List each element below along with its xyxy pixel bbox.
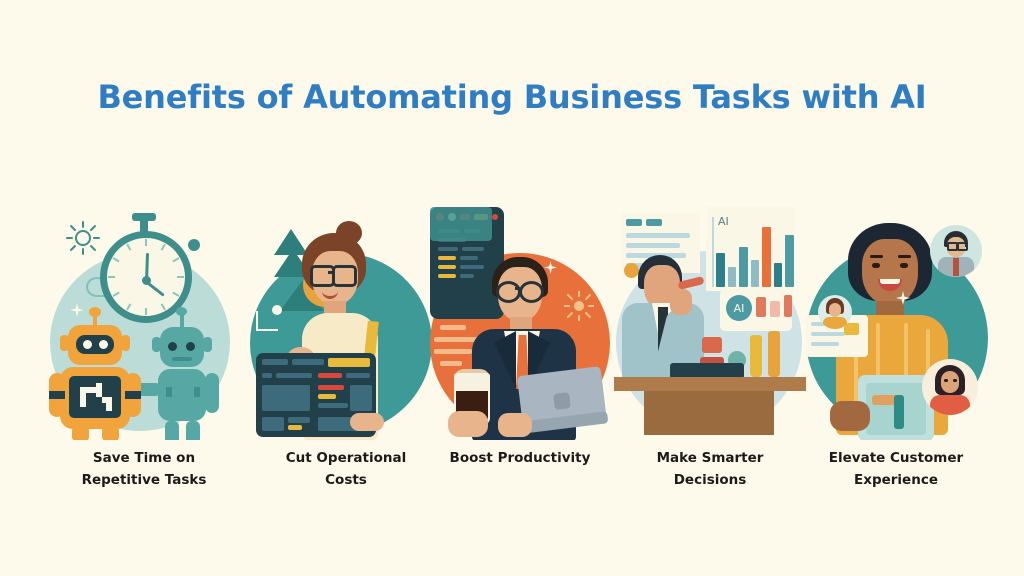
hand (350, 413, 384, 431)
tablet-panel (430, 207, 504, 319)
sun-icon (66, 221, 100, 255)
chart-bar (739, 247, 748, 287)
benefits-row: Save Time on Repetitive Tasks 20 (0, 205, 1024, 505)
eyebrow (898, 255, 911, 258)
benefit-caption: Boost Productivity (410, 448, 630, 470)
caption-line-1: Save Time on (34, 448, 254, 470)
desk-base (644, 391, 774, 435)
benefit-card-save-time[interactable]: Save Time on Repetitive Tasks (48, 205, 240, 505)
chart-bar (751, 260, 760, 287)
bottle-icon (768, 331, 780, 377)
benefit-card-customer-experience[interactable]: Elevate Customer Experience (800, 205, 992, 505)
sparkle-icon (70, 303, 84, 317)
hand (830, 401, 870, 431)
tablet-graphic-stem (894, 395, 904, 429)
illustration-boost-productivity (424, 205, 616, 440)
clock-tick (177, 276, 184, 278)
sun-icon (564, 291, 594, 321)
connector-node (272, 305, 282, 315)
laptop-logo (553, 392, 571, 410)
illustration-cut-costs: 20 (250, 205, 442, 440)
art-woman-dashboard: 20 (250, 205, 442, 440)
bottle-icon (750, 335, 762, 377)
ui-card-red (702, 337, 722, 353)
glasses-left-lens (496, 281, 521, 303)
stopwatch-knob (186, 237, 202, 253)
avatar-bubble-woman-small (818, 295, 852, 329)
caption-line-1: Elevate Customer (786, 448, 1006, 470)
chart-bar (774, 263, 783, 287)
glasses-bridge (515, 287, 520, 290)
ai-badge: AI (726, 295, 752, 321)
benefit-caption: Save Time on Repetitive Tasks (34, 448, 254, 492)
hand-holding-laptop (498, 413, 532, 437)
caption-line-2: Experience (786, 470, 1006, 492)
art-woman-customer-avatars (800, 205, 992, 440)
hand (670, 289, 692, 315)
caption-line-1: Boost Productivity (410, 448, 630, 470)
chart-bar (728, 267, 737, 287)
caption-line-2: Repetitive Tasks (34, 470, 254, 492)
chart-bar (716, 253, 725, 287)
benefit-card-boost-productivity[interactable]: Boost Productivity (424, 205, 616, 505)
illustration-smarter-decisions: AI AI (614, 205, 806, 440)
illustration-save-time (48, 205, 240, 440)
avatar-bubble-woman (922, 359, 978, 415)
art-businessman-laptop (424, 205, 616, 440)
illustration-customer-experience (800, 205, 992, 440)
chart-bar (762, 227, 771, 287)
avatar-bubble-man (930, 225, 982, 277)
eye (872, 263, 880, 268)
benefit-card-smarter-decisions[interactable]: AI AI (614, 205, 806, 505)
tablet-image-preview (430, 207, 492, 241)
chart-axis (712, 217, 714, 287)
glasses-right-lens (519, 281, 544, 303)
art-analyst-ai-chart: AI AI (614, 205, 806, 440)
caption-line-2: Costs (236, 470, 456, 492)
benefit-caption: Elevate Customer Experience (786, 448, 1006, 492)
clock-tick (145, 239, 147, 246)
eyebrow (870, 255, 883, 258)
teeth (880, 279, 900, 284)
face (862, 239, 918, 305)
eye (900, 263, 908, 268)
infographic-canvas: Benefits of Automating Business Tasks wi… (0, 0, 1024, 576)
clock-tick (108, 276, 115, 278)
desk-top (614, 377, 806, 391)
glasses-bridge (328, 271, 334, 274)
clock-center-pin (142, 276, 151, 285)
chart-bar (785, 235, 794, 287)
glasses-right-lens (332, 265, 357, 287)
bar-chart (716, 227, 794, 287)
art-robots-stopwatch (48, 205, 240, 440)
clock-tick (145, 308, 147, 315)
hand-holding-cup (448, 411, 488, 437)
page-title: Benefits of Automating Business Tasks wi… (0, 78, 1024, 116)
legend-dot-orange (624, 263, 639, 278)
